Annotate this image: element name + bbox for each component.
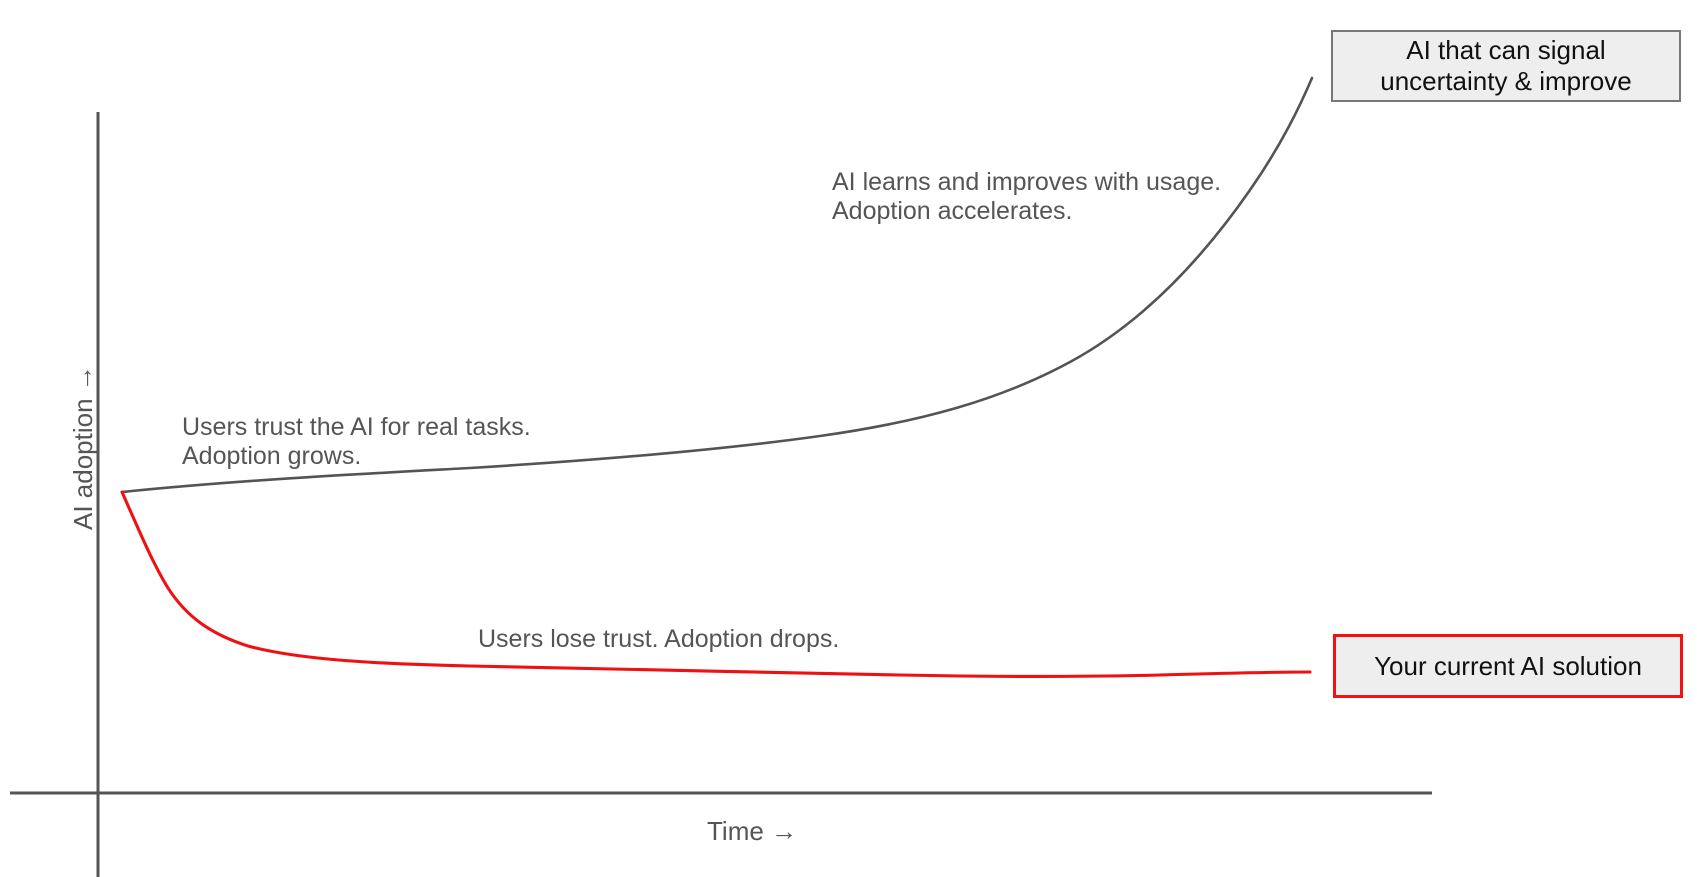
chart-canvas: AI learns and improves with usage. Adopt… [0, 0, 1697, 877]
annotation-upper-curve: AI learns and improves with usage. Adopt… [832, 168, 1221, 226]
y-axis-label: AI adoption → [68, 365, 99, 530]
callout-current-solution: Your current AI solution [1333, 634, 1683, 698]
annotation-lower-curve: Users lose trust. Adoption drops. [478, 625, 839, 654]
annotation-early-growth: Users trust the AI for real tasks. Adopt… [182, 413, 531, 471]
x-axis-label: Time → [707, 816, 797, 847]
callout-good-solution: AI that can signal uncertainty & improve [1331, 30, 1681, 102]
